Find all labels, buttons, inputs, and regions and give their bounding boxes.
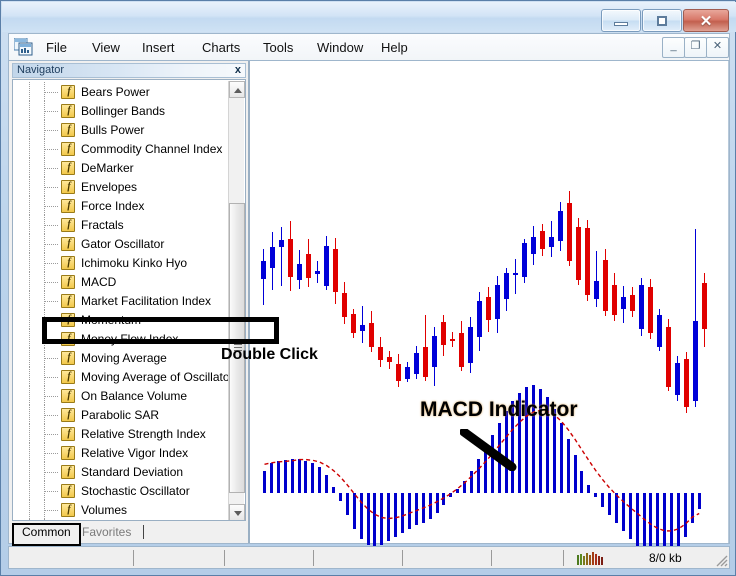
tree-line xyxy=(29,367,30,387)
tree-item-label: Williams' Percent Range xyxy=(81,520,211,521)
tree-line xyxy=(45,472,58,473)
candle-body xyxy=(351,314,356,333)
candle-body xyxy=(288,239,293,277)
tree-line xyxy=(45,301,58,302)
tree-item-label: Moving Average of Oscillator xyxy=(81,368,234,386)
macd-bar xyxy=(353,493,356,529)
menu-view[interactable]: View xyxy=(87,38,125,57)
tree-item-bollinger-bands[interactable]: fBollinger Bands xyxy=(13,101,245,121)
function-icon: f xyxy=(61,142,75,156)
candle-body xyxy=(495,285,500,319)
candle-body xyxy=(594,281,599,299)
candle-body xyxy=(522,243,527,277)
candle-body xyxy=(639,285,644,329)
candle-body xyxy=(630,295,635,311)
macd-bar xyxy=(698,493,701,509)
candle-body xyxy=(540,231,545,249)
function-icon: f xyxy=(61,465,75,479)
navigator-tabs: Common Favorites xyxy=(12,523,246,543)
macd-bar xyxy=(360,493,363,539)
candle-body xyxy=(558,211,563,241)
tree-item-label: Force Index xyxy=(81,197,144,215)
metatrader-window: ✕ File View Insert Charts Tools Window H… xyxy=(0,0,736,576)
candle-body xyxy=(369,323,374,347)
macd-bar xyxy=(608,493,611,515)
tree-item-label: MACD xyxy=(81,273,116,291)
maximize-button[interactable] xyxy=(642,9,682,32)
tree-item-force-index[interactable]: fForce Index xyxy=(13,196,245,216)
function-icon: f xyxy=(61,85,75,99)
scroll-down-button[interactable] xyxy=(229,504,245,521)
macd-bar xyxy=(394,493,397,537)
macd-bar xyxy=(567,439,570,493)
tree-item-label: DeMarker xyxy=(81,159,134,177)
tree-item-moving-average[interactable]: fMoving Average xyxy=(13,348,245,368)
navigator-close-icon[interactable]: x xyxy=(235,64,241,77)
macd-bar xyxy=(408,493,411,529)
tree-line xyxy=(45,149,58,150)
mdi-restore-button[interactable]: ❐ xyxy=(684,37,707,58)
candle-body xyxy=(441,322,446,345)
pointer-arrow-icon xyxy=(460,429,522,471)
tree-line xyxy=(45,263,58,264)
tab-caret xyxy=(143,525,144,539)
tree-line xyxy=(29,120,30,140)
tree-item-label: Fractals xyxy=(81,216,124,234)
candle-body xyxy=(684,359,689,407)
tree-item-label: Moving Average xyxy=(81,349,167,367)
macd-bar xyxy=(629,493,632,539)
function-icon: f xyxy=(61,389,75,403)
tree-item-envelopes[interactable]: fEnvelopes xyxy=(13,177,245,197)
tree-item-bears-power[interactable]: fBears Power xyxy=(13,82,245,102)
mdi-close-button[interactable]: ✕ xyxy=(706,37,729,58)
tree-line xyxy=(45,491,58,492)
workspace: Navigator x fBears PowerfBollinger Bands… xyxy=(8,60,730,544)
macd-bar xyxy=(677,493,680,549)
function-icon: f xyxy=(61,237,75,251)
candle-body xyxy=(387,357,392,362)
candle-body xyxy=(432,336,437,367)
candle-body xyxy=(486,297,491,320)
candle-body xyxy=(585,228,590,295)
tree-item-relative-strength-index[interactable]: fRelative Strength Index xyxy=(13,424,245,444)
macd-bar xyxy=(298,459,301,493)
function-icon: f xyxy=(61,218,75,232)
function-icon: f xyxy=(61,503,75,517)
macd-bar xyxy=(601,493,604,507)
macd-bar xyxy=(422,493,425,523)
menu-window[interactable]: Window xyxy=(312,38,368,57)
candle-body xyxy=(666,327,671,387)
candle-body xyxy=(333,249,338,292)
candle-body xyxy=(675,363,680,395)
macd-bar xyxy=(339,493,342,501)
function-icon: f xyxy=(61,275,75,289)
tree-item-market-facilitation-index[interactable]: fMarket Facilitation Index xyxy=(13,291,245,311)
navigator-title-bar: Navigator x xyxy=(12,63,246,78)
candle-wick xyxy=(515,259,516,294)
candle-body xyxy=(648,287,653,333)
status-divider xyxy=(224,550,225,566)
macd-bar xyxy=(346,493,349,515)
macd-bar xyxy=(311,463,314,493)
tree-item-ichimoku-kinko-hyo[interactable]: fIchimoku Kinko Hyo xyxy=(13,253,245,273)
macd-bar xyxy=(580,471,583,493)
candle-body xyxy=(504,273,509,299)
tree-line xyxy=(45,206,58,207)
macd-bar xyxy=(367,493,370,545)
macd-bar xyxy=(636,493,639,547)
status-bar: 8/0 kb xyxy=(8,546,730,569)
tree-line xyxy=(29,481,30,501)
tree-line xyxy=(45,111,58,112)
macd-highlight-box xyxy=(42,317,279,344)
navigator-tree[interactable]: fBears PowerfBollinger BandsfBulls Power… xyxy=(12,79,246,521)
tree-line xyxy=(29,462,30,482)
tree-line xyxy=(29,424,30,444)
tree-line xyxy=(44,519,45,521)
macd-bar xyxy=(263,471,266,493)
tree-item-commodity-channel-index[interactable]: fCommodity Channel Index xyxy=(13,139,245,159)
macd-bar xyxy=(463,481,466,493)
macd-bar xyxy=(401,493,404,533)
tree-line xyxy=(45,396,58,397)
status-divider xyxy=(563,550,564,566)
tree-line xyxy=(45,130,58,131)
tree-line xyxy=(29,215,30,235)
close-button[interactable]: ✕ xyxy=(683,9,729,32)
tree-line xyxy=(29,177,30,197)
tree-line xyxy=(29,139,30,159)
candle-body xyxy=(621,297,626,309)
function-icon: f xyxy=(61,161,75,175)
tree-item-stochastic-oscillator[interactable]: fStochastic Oscillator xyxy=(13,481,245,501)
candle-body xyxy=(576,227,581,280)
candle-body xyxy=(657,315,662,347)
tree-item-label: Envelopes xyxy=(81,178,137,196)
tree-item-label: Bulls Power xyxy=(81,121,144,139)
candle-body xyxy=(459,333,464,367)
maximize-icon xyxy=(657,16,667,26)
tree-item-label: Relative Strength Index xyxy=(81,425,206,443)
function-icon: f xyxy=(61,370,75,384)
tree-line xyxy=(44,520,45,521)
tree-item-label: Ichimoku Kinko Hyo xyxy=(81,254,187,272)
chart-right-edge xyxy=(728,61,729,543)
mdi-minimize-button[interactable]: _ xyxy=(662,37,685,58)
tree-item-expert-advisors[interactable]: Expert Advisors xyxy=(13,520,245,521)
tree-item-label: Parabolic SAR xyxy=(81,406,159,424)
tree-line xyxy=(29,329,30,349)
function-icon: f xyxy=(61,104,75,118)
chevron-down-icon xyxy=(234,511,242,516)
function-icon: f xyxy=(61,294,75,308)
macd-bar xyxy=(456,489,459,493)
status-divider xyxy=(133,550,134,566)
tree-line xyxy=(29,234,30,254)
macd-bar xyxy=(277,461,280,493)
candle-body xyxy=(324,246,329,286)
tree-item-on-balance-volume[interactable]: fOn Balance Volume xyxy=(13,386,245,406)
signal-strength-icon[interactable] xyxy=(577,552,605,565)
macd-bar xyxy=(380,493,383,545)
candle-body xyxy=(468,327,473,363)
tree-item-label: Relative Vigor Index xyxy=(81,444,188,462)
tree-line xyxy=(29,253,30,273)
tree-item-label: Market Facilitation Index xyxy=(81,292,211,310)
tree-item-standard-deviation[interactable]: fStandard Deviation xyxy=(13,462,245,482)
minimize-button[interactable] xyxy=(601,9,641,32)
tree-line xyxy=(45,434,58,435)
candle-body xyxy=(270,247,275,268)
candle-body xyxy=(360,325,365,331)
tree-item-moving-average-of-oscillator[interactable]: fMoving Average of Oscillator xyxy=(13,367,245,387)
tree-line xyxy=(29,310,30,330)
candle-body xyxy=(693,321,698,401)
navigator-scrollbar[interactable] xyxy=(228,81,244,521)
function-icon: f xyxy=(61,351,75,365)
tree-item-bulls-power[interactable]: fBulls Power xyxy=(13,120,245,140)
macd-bar xyxy=(387,493,390,541)
candle-body xyxy=(513,273,518,275)
tree-line xyxy=(29,500,30,520)
tree-line xyxy=(45,377,58,378)
candle-wick xyxy=(281,227,282,286)
candle-body xyxy=(315,271,320,274)
tree-line xyxy=(29,291,30,311)
status-divider xyxy=(313,550,314,566)
candle-body xyxy=(396,364,401,381)
macd-bar xyxy=(449,493,452,497)
navigator-title: Navigator xyxy=(17,64,64,77)
minimize-icon xyxy=(614,22,628,26)
macd-bar xyxy=(622,493,625,531)
candle-body xyxy=(279,240,284,247)
tree-item-label: Standard Deviation xyxy=(81,463,183,481)
macd-bar xyxy=(436,493,439,513)
metatrader-icon xyxy=(14,38,33,56)
macd-bar xyxy=(373,493,376,547)
candle-body xyxy=(297,264,302,280)
scroll-up-button[interactable] xyxy=(229,81,245,98)
macd-bar xyxy=(415,493,418,525)
candle-body xyxy=(450,339,455,341)
candle-body xyxy=(477,301,482,337)
tree-line xyxy=(29,519,30,521)
tree-line xyxy=(45,187,58,188)
candle-body xyxy=(603,260,608,311)
macd-bar xyxy=(615,493,618,523)
menu-insert[interactable]: Insert xyxy=(137,38,180,57)
tree-line xyxy=(45,282,58,283)
macd-bar xyxy=(470,471,473,493)
tree-item-label: Bears Power xyxy=(81,83,150,101)
function-icon: f xyxy=(61,199,75,213)
function-icon: f xyxy=(61,446,75,460)
function-icon: f xyxy=(61,484,75,498)
tree-item-label: Gator Oscillator xyxy=(81,235,164,253)
macd-bar xyxy=(429,493,432,519)
macd-bar xyxy=(594,493,597,497)
tree-item-williams-percent-range[interactable]: fWilliams' Percent Range xyxy=(13,519,245,521)
candle-body xyxy=(549,237,554,247)
candle-body xyxy=(405,367,410,379)
title-bar: ✕ xyxy=(2,2,736,32)
tree-item-label: Bollinger Bands xyxy=(81,102,165,120)
tree-item-parabolic-sar[interactable]: fParabolic SAR xyxy=(13,405,245,425)
tree-item-label: On Balance Volume xyxy=(81,387,187,405)
macd-bar xyxy=(304,461,307,493)
tree-item-macd[interactable]: fMACD xyxy=(13,272,245,292)
tree-line xyxy=(45,244,58,245)
tree-line xyxy=(45,225,58,226)
candle-body xyxy=(531,237,536,254)
tree-line xyxy=(29,443,30,463)
chevron-up-icon xyxy=(234,88,242,93)
tree-item-demarker[interactable]: fDeMarker xyxy=(13,158,245,178)
macd-bar xyxy=(442,493,445,505)
tree-line xyxy=(29,101,30,121)
tree-item-volumes[interactable]: fVolumes xyxy=(13,500,245,520)
function-icon: f xyxy=(61,256,75,270)
candle-body xyxy=(306,254,311,278)
macd-bar xyxy=(691,493,694,523)
annotation-double-click: Double Click xyxy=(221,346,318,364)
tree-line xyxy=(45,453,58,454)
candle-body xyxy=(612,285,617,315)
macd-bar xyxy=(684,493,687,537)
function-icon: f xyxy=(61,123,75,137)
tree-item-label: Expert Advisors xyxy=(81,520,164,521)
status-divider xyxy=(402,550,403,566)
function-icon: f xyxy=(61,180,75,194)
tab-common[interactable]: Common xyxy=(12,523,81,546)
tree-line xyxy=(29,348,30,368)
tree-line xyxy=(45,92,58,93)
menu-file[interactable]: File xyxy=(41,38,72,57)
macd-bar xyxy=(284,460,287,493)
tree-item-fractals[interactable]: fFractals xyxy=(13,215,245,235)
tree-line xyxy=(45,510,58,511)
tree-line xyxy=(45,168,58,169)
candle-body xyxy=(378,347,383,360)
macd-bar xyxy=(332,487,335,493)
tree-line xyxy=(45,415,58,416)
menu-charts[interactable]: Charts xyxy=(197,38,245,57)
function-icon: f xyxy=(61,427,75,441)
menu-help[interactable]: Help xyxy=(376,38,413,57)
tree-item-gator-oscillator[interactable]: fGator Oscillator xyxy=(13,234,245,254)
macd-bar xyxy=(587,485,590,493)
macd-bar xyxy=(574,455,577,493)
menu-bar: File View Insert Charts Tools Window Hel… xyxy=(8,33,730,60)
status-divider xyxy=(491,550,492,566)
tree-line xyxy=(45,358,58,359)
tree-line xyxy=(29,386,30,406)
candle-body xyxy=(261,261,266,279)
tab-favorites[interactable]: Favorites xyxy=(74,523,139,542)
tree-line xyxy=(29,196,30,216)
tree-line xyxy=(29,405,30,425)
macd-bar xyxy=(560,423,563,493)
candle-body xyxy=(567,203,572,261)
macd-bar xyxy=(325,475,328,493)
macd-bar xyxy=(318,467,321,493)
status-traffic-label: 8/0 kb xyxy=(649,550,682,566)
tree-line xyxy=(29,82,30,102)
tree-item-relative-vigor-index[interactable]: fRelative Vigor Index xyxy=(13,443,245,463)
tree-item-label: Stochastic Oscillator xyxy=(81,482,190,500)
annotation-macd-indicator: MACD Indicator xyxy=(420,398,578,422)
candle-body xyxy=(342,293,347,317)
candle-body xyxy=(414,353,419,374)
macd-bar xyxy=(270,463,273,493)
macd-bar xyxy=(291,459,294,493)
tree-item-label: Volumes xyxy=(81,501,127,519)
close-icon: ✕ xyxy=(684,10,728,31)
tree-line xyxy=(29,272,30,292)
candle-body xyxy=(702,283,707,329)
function-icon: f xyxy=(61,408,75,422)
tree-item-label: Commodity Channel Index xyxy=(81,140,222,158)
candle-body xyxy=(423,347,428,377)
menu-tools[interactable]: Tools xyxy=(258,38,298,57)
navigator-panel: Navigator x fBears PowerfBollinger Bands… xyxy=(9,61,248,543)
resize-grip-icon[interactable] xyxy=(714,553,728,567)
tree-line xyxy=(29,158,30,178)
